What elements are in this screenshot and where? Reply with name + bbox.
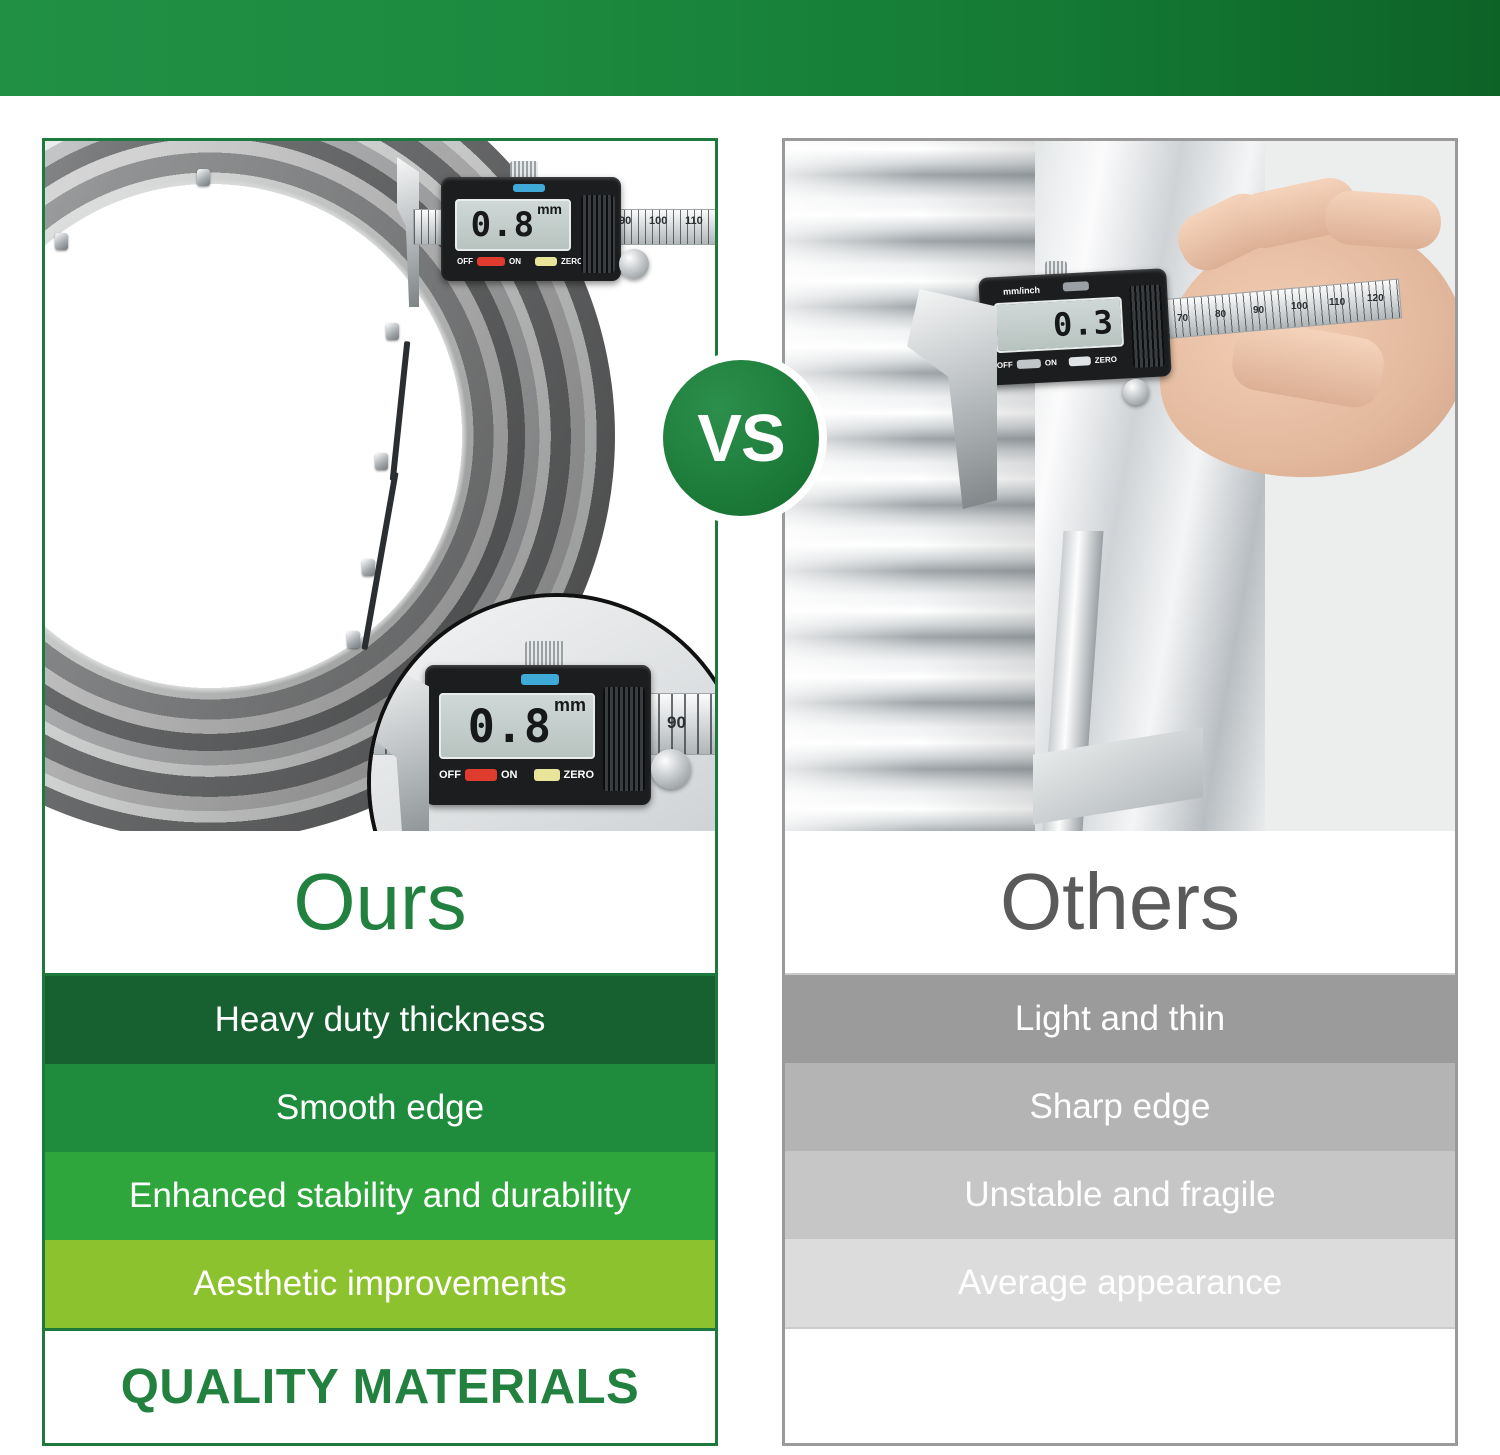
zero-button-zoom — [534, 769, 560, 781]
feature-label: Smooth edge — [276, 1088, 484, 1128]
ruler-number: 90 — [1253, 305, 1264, 316]
heading-others: Others — [1000, 862, 1240, 942]
caliper-thumbwheel-zoom — [651, 749, 691, 789]
top-green-banner — [0, 0, 1500, 96]
on-label: ON — [1045, 358, 1057, 368]
zero-label: ZERO — [561, 257, 583, 266]
feature-list-ours: Heavy duty thickness Smooth edge Enhance… — [45, 976, 715, 1328]
caliper-grip — [1129, 284, 1165, 368]
finger — [1323, 189, 1442, 251]
feature-list-others: Light and thin Sharp edge Unstable and f… — [785, 975, 1455, 1327]
caliper-display-zoom: 0.8 mm — [439, 693, 595, 759]
heading-ours-container: Ours — [45, 831, 715, 976]
footer-ours-container: QUALITY MATERIALS — [45, 1328, 715, 1443]
caliper-buttons: OFF ON ZERO — [457, 257, 583, 266]
feature-label: Sharp edge — [1030, 1087, 1211, 1127]
caliper-reading: 0.3 — [1052, 306, 1114, 341]
feature-row: Enhanced stability and durability — [45, 1152, 715, 1240]
ruler-number: 70 — [1177, 313, 1188, 324]
footer-others-container — [785, 1327, 1455, 1441]
mm-inch-label: mm/inch — [1003, 285, 1040, 297]
caliper-body: 0.8 mm OFF ON ZERO — [441, 177, 621, 281]
caliper-thumbwheel — [1123, 379, 1149, 405]
feature-row: Sharp edge — [785, 1063, 1455, 1151]
ruler-number: 100 — [1291, 301, 1308, 312]
caliper-unit: mm — [537, 201, 562, 217]
product-photo-others: 70 80 90 100 110 120 mm/inch 0.3 OFF ON … — [785, 141, 1455, 831]
heading-ours: Ours — [293, 862, 466, 942]
ruler-number: 100 — [649, 215, 667, 227]
feature-row: Heavy duty thickness — [45, 976, 715, 1064]
feature-label: Average appearance — [958, 1263, 1282, 1303]
heading-others-container: Others — [785, 831, 1455, 975]
caliper-reading: 0.8 — [471, 208, 535, 242]
panel-ours: 90 100 110 0.8 mm OFF ON ZERO — [42, 138, 718, 1446]
feature-row: Unstable and fragile — [785, 1151, 1455, 1239]
ruler-number: 110 — [1329, 297, 1345, 308]
power-switch — [1017, 359, 1041, 369]
caliper-grip-zoom — [603, 687, 645, 791]
panel-others: 70 80 90 100 110 120 mm/inch 0.3 OFF ON … — [782, 138, 1458, 1446]
caliper-display: 0.8 mm — [455, 199, 571, 251]
power-switch-zoom — [465, 769, 497, 781]
caliper-buttons-zoom: OFF ON ZERO — [439, 769, 594, 781]
vs-badge-circle: VS — [663, 360, 819, 516]
magnified-caliper-ours: 90 0.8 mm OFF ON ZERO — [367, 593, 715, 831]
caliper-thumbwheel — [619, 249, 649, 279]
off-label: OFF — [997, 360, 1013, 370]
power-switch — [477, 257, 505, 266]
zero-button — [535, 257, 557, 266]
feature-row: Aesthetic improvements — [45, 1240, 715, 1328]
vs-label: VS — [697, 400, 784, 477]
mode-button-zoom — [521, 674, 559, 685]
ruler-ticks — [1159, 280, 1401, 339]
caliper-unit-zoom: mm — [554, 695, 586, 716]
ruler-number-zoom: 90 — [667, 713, 686, 733]
caliper-display: 0.3 — [994, 297, 1124, 354]
mode-button — [1063, 281, 1089, 291]
on-label-zoom: ON — [501, 769, 518, 781]
product-photo-ours: 90 100 110 0.8 mm OFF ON ZERO — [45, 141, 715, 831]
feature-label: Enhanced stability and durability — [129, 1176, 631, 1216]
caliper-grip — [581, 195, 615, 273]
quality-materials-label: QUALITY MATERIALS — [121, 1359, 639, 1415]
off-label: OFF — [457, 257, 473, 266]
feature-label: Light and thin — [1015, 999, 1225, 1039]
on-label: ON — [509, 257, 521, 266]
feature-row: Smooth edge — [45, 1064, 715, 1152]
caliper-body-zoom: 0.8 mm OFF ON ZERO — [425, 665, 651, 805]
digital-caliper-others: 70 80 90 100 110 120 mm/inch 0.3 OFF ON … — [981, 259, 1401, 439]
vs-badge: VS — [655, 352, 827, 524]
bolt-icon — [347, 631, 360, 648]
ruler-number: 120 — [1367, 293, 1384, 304]
caliper-ruler — [1158, 279, 1403, 340]
zero-label-zoom: ZERO — [564, 769, 595, 781]
mode-button — [513, 184, 545, 192]
bolt-icon — [55, 233, 68, 250]
bolt-icon — [375, 453, 388, 470]
bolt-icon — [197, 169, 210, 186]
ruler-number: 80 — [1215, 309, 1226, 320]
feature-row: Light and thin — [785, 975, 1455, 1063]
zero-label: ZERO — [1095, 355, 1118, 365]
feature-label: Heavy duty thickness — [215, 1000, 546, 1040]
off-label-zoom: OFF — [439, 769, 461, 781]
corrugated-gloss — [785, 141, 1035, 831]
bolt-icon — [362, 559, 375, 576]
caliper-body: mm/inch 0.3 OFF ON ZERO — [978, 268, 1171, 386]
digital-caliper-ours: 90 100 110 0.8 mm OFF ON ZERO — [397, 153, 715, 333]
feature-row: Average appearance — [785, 1239, 1455, 1327]
feature-label: Aesthetic improvements — [193, 1264, 566, 1304]
feature-label: Unstable and fragile — [964, 1175, 1275, 1215]
caliper-reading-zoom: 0.8 — [468, 704, 552, 749]
caliper-buttons: OFF ON ZERO — [997, 355, 1118, 370]
ruler-number: 110 — [685, 215, 703, 227]
zero-button — [1069, 356, 1091, 366]
